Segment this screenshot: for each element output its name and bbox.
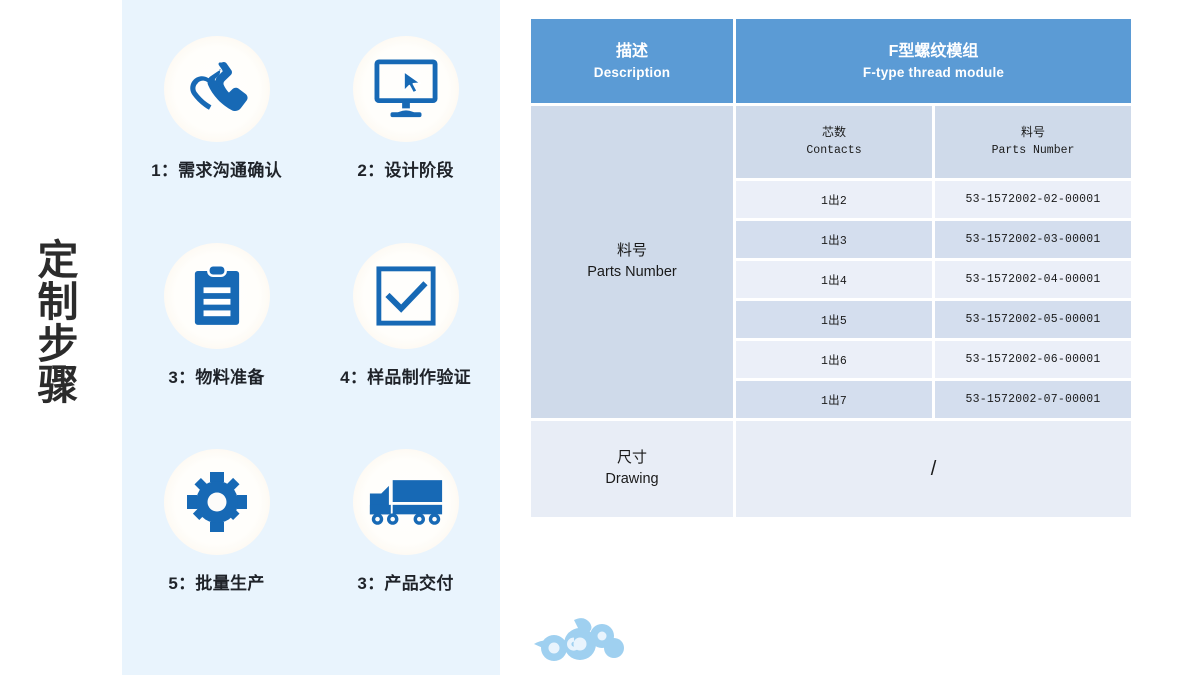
step-item-3[interactable]: 3：物料准备: [122, 235, 311, 442]
row-label-drawing-cn: 尺寸: [531, 447, 733, 470]
cell-part-number: 53-1572002-05-00001: [935, 301, 1131, 338]
cell-part-number: 53-1572002-02-00001: [935, 181, 1131, 218]
header-description-en: Description: [531, 63, 733, 83]
gear-icon: [185, 470, 249, 534]
header-description-cn: 描述: [531, 40, 733, 63]
step-label-2: 2：设计阶段: [357, 156, 453, 181]
step-item-1[interactable]: 1：需求沟通确认: [122, 28, 311, 235]
cell-contacts: 1出5: [736, 301, 932, 338]
row-label-parts-number-cn: 料号: [531, 240, 733, 263]
step-item-4[interactable]: 4：样品制作验证: [311, 235, 500, 442]
step-item-6[interactable]: 3：产品交付: [311, 441, 500, 648]
row-label-parts-number-en: Parts Number: [531, 262, 733, 284]
header-module-cn: F型螺纹模组: [736, 40, 1131, 63]
monitor-cursor-icon: [373, 58, 439, 120]
cell-contacts: 1出4: [736, 261, 932, 298]
header-module-en: F-type thread module: [736, 63, 1131, 83]
page-title-char-4: 骤: [22, 365, 94, 407]
subheader-parts-number-en: Parts Number: [935, 142, 1131, 161]
step-icon-circle-6: [353, 449, 459, 555]
page-title-char-3: 步: [22, 324, 94, 366]
spec-table: 描述 Description F型螺纹模组 F-type thread modu…: [528, 16, 1128, 532]
cell-contacts: 1出6: [736, 341, 932, 378]
row-label-drawing: 尺寸 Drawing: [531, 421, 733, 517]
step-item-2[interactable]: 2：设计阶段: [311, 28, 500, 235]
cell-contacts: 1出3: [736, 221, 932, 258]
step-item-5[interactable]: 5：批量生产: [122, 441, 311, 648]
row-label-drawing-en: Drawing: [531, 469, 733, 491]
step-icon-circle-5: [164, 449, 270, 555]
header-description: 描述 Description: [531, 19, 733, 103]
phone-icon: [186, 58, 248, 120]
table-header-row: 描述 Description F型螺纹模组 F-type thread modu…: [531, 19, 1131, 103]
step-label-1: 1：需求沟通确认: [151, 156, 282, 181]
slide-canvas: 定 制 步 骤 1：需求沟通确认: [0, 0, 1200, 675]
step-label-6: 3：产品交付: [357, 569, 453, 594]
subheader-parts-number: 料号 Parts Number: [935, 106, 1131, 178]
step-label-3: 3：物料准备: [168, 363, 264, 388]
cell-part-number: 53-1572002-07-00001: [935, 381, 1131, 418]
subheader-parts-number-cn: 料号: [935, 123, 1131, 143]
page-title-char-1: 定: [22, 240, 94, 282]
cloud-swirl-icon: [534, 614, 630, 670]
step-icon-circle-4: [353, 243, 459, 349]
cell-part-number: 53-1572002-03-00001: [935, 221, 1131, 258]
cell-contacts: 1出7: [736, 381, 932, 418]
cell-part-number: 53-1572002-04-00001: [935, 261, 1131, 298]
checkbox-check-icon: [375, 265, 437, 327]
header-module: F型螺纹模组 F-type thread module: [736, 19, 1131, 103]
subheader-contacts-en: Contacts: [736, 142, 932, 161]
step-icon-circle-3: [164, 243, 270, 349]
subheader-contacts-cn: 芯数: [736, 123, 932, 143]
table-subheader-row: 料号 Parts Number 芯数 Contacts 料号 Parts Num…: [531, 106, 1131, 178]
page-title-char-2: 制: [22, 282, 94, 324]
step-icon-circle-2: [353, 36, 459, 142]
step-label-5: 5：批量生产: [168, 569, 264, 594]
row-label-parts-number: 料号 Parts Number: [531, 106, 733, 418]
cell-contacts: 1出2: [736, 181, 932, 218]
cell-drawing-value: /: [736, 421, 1131, 517]
clipboard-icon: [192, 264, 242, 328]
page-title: 定 制 步 骤: [22, 240, 94, 407]
step-label-4: 4：样品制作验证: [340, 363, 471, 388]
steps-panel: 1：需求沟通确认 2：设计阶段: [122, 0, 500, 675]
subheader-contacts: 芯数 Contacts: [736, 106, 932, 178]
table-row-drawing: 尺寸 Drawing /: [531, 421, 1131, 517]
steps-grid: 1：需求沟通确认 2：设计阶段: [122, 28, 500, 648]
truck-icon: [368, 476, 444, 528]
cell-part-number: 53-1572002-06-00001: [935, 341, 1131, 378]
step-icon-circle-1: [164, 36, 270, 142]
